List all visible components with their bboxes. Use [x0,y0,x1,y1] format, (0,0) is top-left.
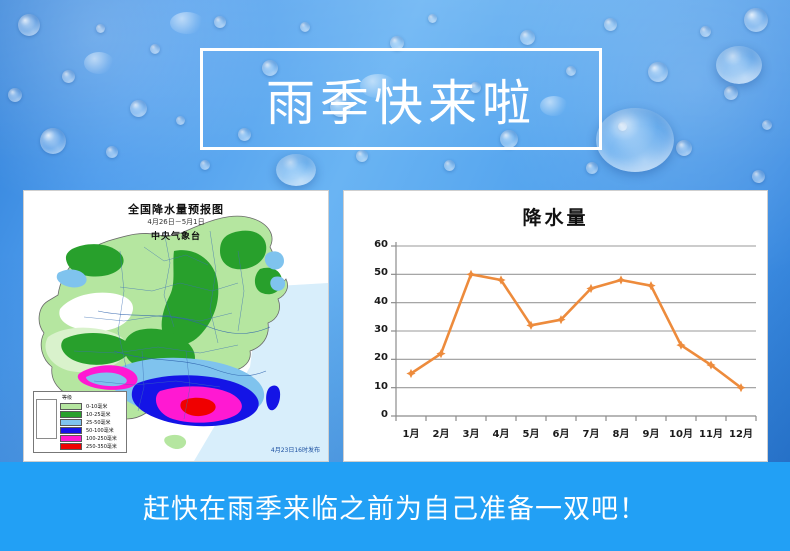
legend-item: 25-50毫米 [60,418,124,426]
water-droplet [8,88,22,102]
legend-swatch [60,427,82,434]
x-axis-tick-label: 2月 [426,425,456,440]
precipitation-chart-card: 降水量 0102030405060 1月2月3月4月5月6月7月8月9月10月1… [343,190,768,462]
water-droplet [200,160,210,170]
y-axis-tick-label: 40 [364,296,388,307]
legend-label: 100-250毫米 [86,435,117,442]
legend-inset-map [36,399,57,439]
y-axis-tick-label: 50 [364,267,388,278]
legend-item: 250-350毫米 [60,442,124,450]
mist-spot [170,12,204,34]
legend-label: 0-10毫米 [86,403,107,410]
water-droplet [176,116,185,125]
y-axis-tick-label: 20 [364,352,388,363]
legend-swatch [60,443,82,450]
x-axis-tick-label: 10月 [666,425,696,440]
legend-item: 50-100毫米 [60,426,124,434]
y-axis-tick-label: 60 [364,239,388,250]
map-organization: 中央气象台 [24,229,328,242]
water-droplet [676,140,692,156]
x-axis-tick-label: 5月 [516,425,546,440]
water-droplet [428,14,437,23]
water-droplet [150,44,160,54]
legend-item: 0-10毫米 [60,402,124,410]
legend-item: 100-250毫米 [60,434,124,442]
x-axis-tick-label: 8月 [606,425,636,440]
call-to-action-banner: 赶快在雨季来临之前为自己准备一双吧！ [0,462,790,551]
mist-spot [84,52,114,74]
water-droplet [724,86,738,100]
large-water-droplet [596,108,674,172]
legend-swatch [60,435,82,442]
water-droplet [40,128,66,154]
water-droplet [106,146,118,158]
water-droplet [300,22,310,32]
x-axis-tick-label: 11月 [696,425,726,440]
x-axis-tick-label: 12月 [726,425,756,440]
x-axis-tick-label: 1月 [396,425,426,440]
map-issue-stamp: 4月23日16时发布 [271,445,320,454]
water-droplet [752,170,765,183]
legend-swatch [60,411,82,418]
x-axis-tick-label: 9月 [636,425,666,440]
water-droplet [604,18,617,31]
line-chart-plot [344,191,767,461]
map-subtitle: 4月26日－5月1日 [24,217,328,227]
map-legend: 等级 0-10毫米 10-25毫米 25-50毫米 [33,391,127,453]
map-title: 全国降水量预报图 [24,201,328,217]
water-droplet [356,150,368,162]
water-droplet [648,62,668,82]
water-droplet [586,162,598,174]
large-water-droplet [276,154,316,186]
water-droplet [444,160,455,171]
legend-swatch [60,419,82,426]
y-axis-tick-label: 30 [364,324,388,335]
water-droplet [700,26,711,37]
large-water-droplet [716,46,762,84]
legend-title: 等级 [62,394,124,401]
water-droplet [130,100,147,117]
water-droplet [762,120,772,130]
water-droplet [744,8,768,32]
legend-label: 50-100毫米 [86,427,114,434]
water-droplet [18,14,40,36]
water-droplet [96,24,105,33]
water-droplet [520,30,535,45]
page-title: 雨季快来啦 [200,48,602,150]
water-droplet [62,70,75,83]
legend-label: 10-25毫米 [86,411,111,418]
legend-swatch [60,403,82,410]
legend-label: 25-50毫米 [86,419,111,426]
legend-label: 250-350毫米 [86,443,117,450]
promo-banner-page: 雨季快来啦 [0,0,790,551]
x-axis-tick-label: 4月 [486,425,516,440]
water-droplet [214,16,226,28]
banner-text: 赶快在雨季来临之前为自己准备一双吧！ [143,487,647,526]
precipitation-map-card: 全国降水量预报图 4月26日－5月1日 中央气象台 4月23日16时发布 等级 … [23,190,329,462]
x-axis-tick-label: 7月 [576,425,606,440]
legend-item: 10-25毫米 [60,410,124,418]
x-axis-tick-label: 6月 [546,425,576,440]
y-axis-tick-label: 10 [364,381,388,392]
x-axis-tick-label: 3月 [456,425,486,440]
y-axis-tick-label: 0 [364,409,388,420]
map-image: 全国降水量预报图 4月26日－5月1日 中央气象台 4月23日16时发布 等级 … [24,191,328,461]
